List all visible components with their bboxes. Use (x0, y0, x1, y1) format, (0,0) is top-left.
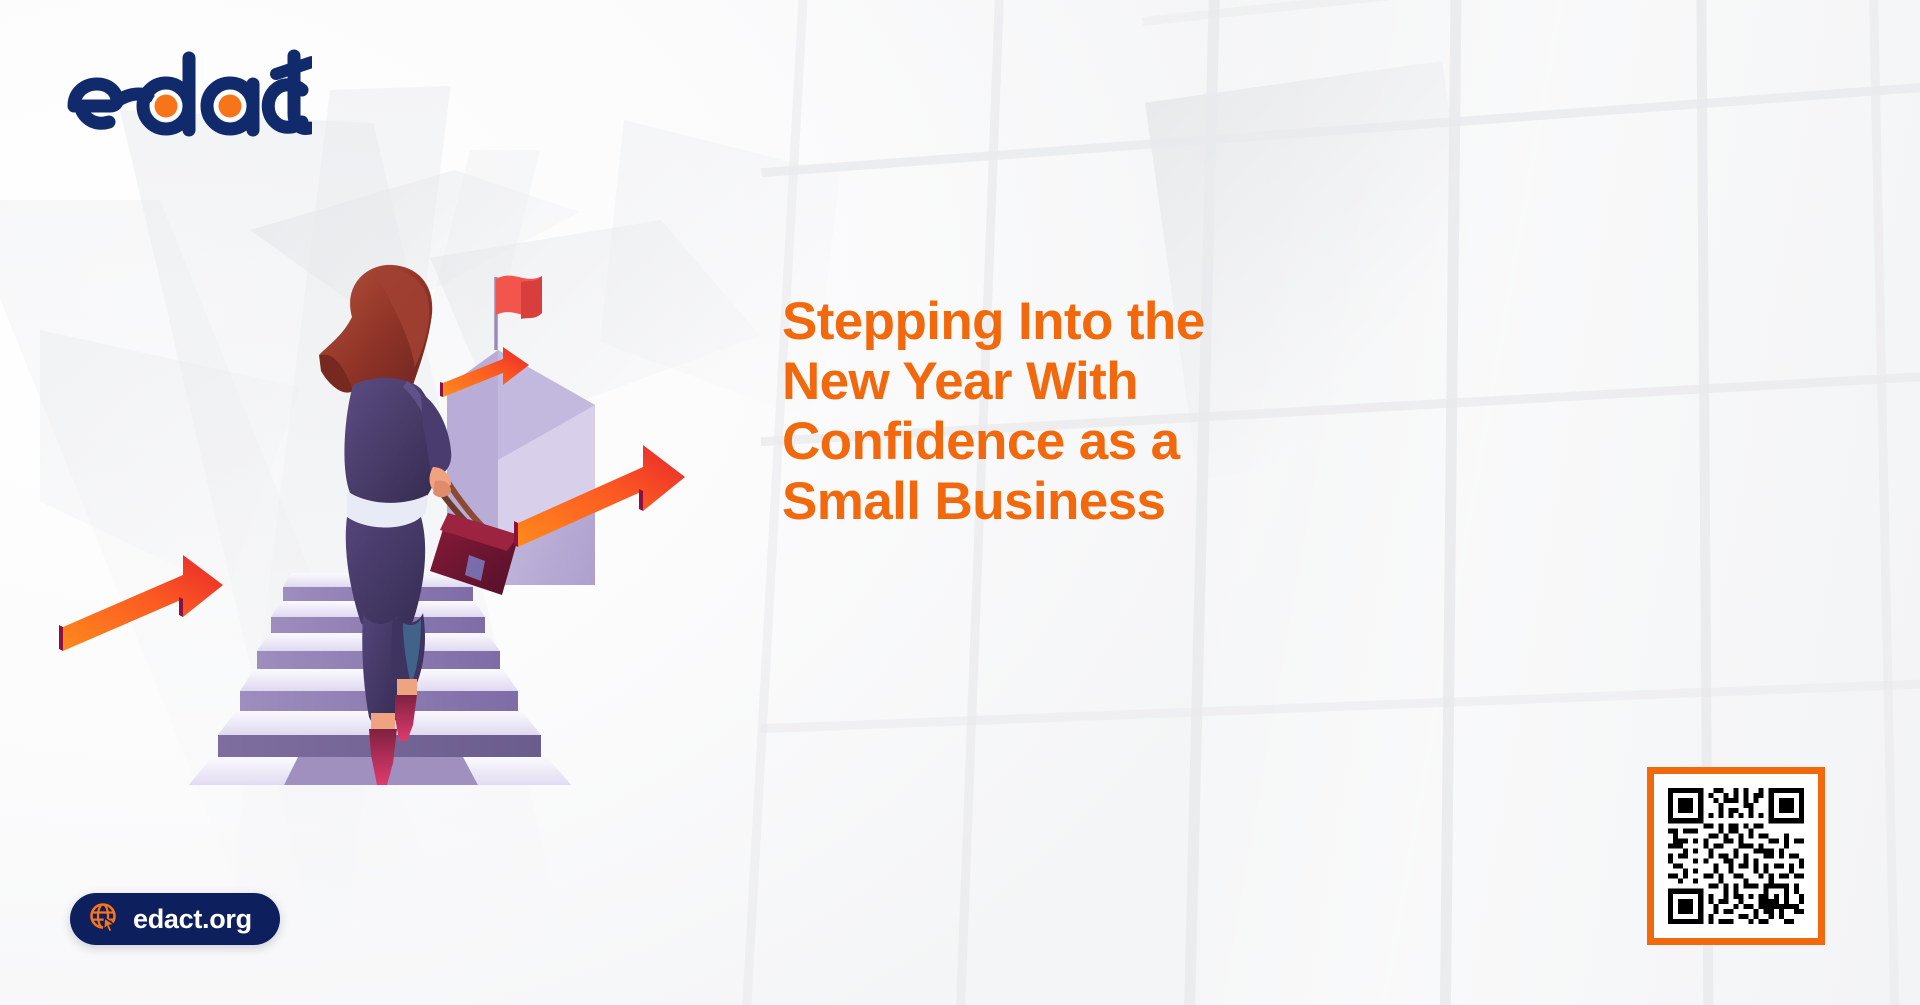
window-mullion-horizontal (761, 76, 1920, 177)
illustration-businesswoman-climbing-stairs (55, 255, 775, 785)
logo-wordmark-path (74, 56, 310, 130)
poster-canvas: Stepping Into the New Year With Confiden… (0, 0, 1920, 1005)
window-mullion-horizontal (760, 676, 1920, 733)
arrow-up-left-icon (59, 555, 223, 651)
globe-cursor-icon (88, 901, 120, 938)
goal-flag-icon (496, 276, 542, 350)
website-url-pill[interactable]: edact.org (70, 893, 280, 945)
window-mullion-vertical (1439, 0, 1462, 1005)
window-mullion-vertical (1868, 0, 1901, 1005)
logo-t-crossbar (276, 62, 312, 74)
logo-dot-right (215, 91, 245, 121)
qr-code[interactable] (1647, 767, 1825, 945)
edact-logo[interactable] (62, 44, 312, 144)
window-mullion-horizontal (1142, 0, 1920, 26)
website-url-label: edact.org (133, 904, 252, 935)
page-title: Stepping Into the New Year With Confiden… (782, 292, 1342, 533)
logo-dot-left (151, 91, 181, 121)
